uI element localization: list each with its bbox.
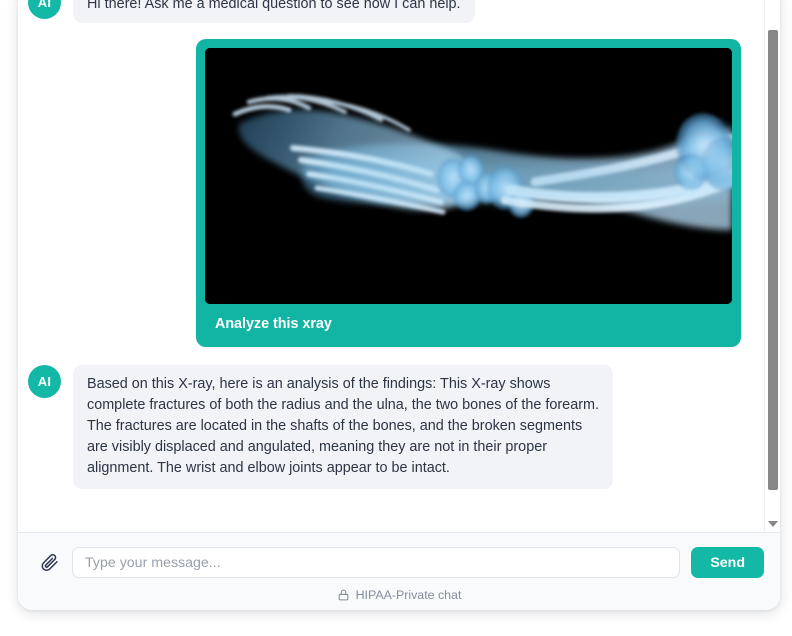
paperclip-icon bbox=[40, 553, 59, 572]
messages-list: AI Hi there! Ask me a medical question t… bbox=[18, 0, 755, 515]
messages-viewport[interactable]: AI Hi there! Ask me a medical question t… bbox=[18, 0, 780, 532]
message-user-attachment: Analyze this xray bbox=[18, 39, 755, 347]
scrollbar-thumb[interactable] bbox=[768, 30, 778, 490]
scrollbar[interactable] bbox=[764, 0, 780, 532]
user-message-card[interactable]: Analyze this xray bbox=[196, 39, 741, 347]
scroll-up-button[interactable] bbox=[765, 0, 780, 2]
composer: Send HIPAA-Private chat bbox=[18, 532, 780, 610]
chat-card: AI Hi there! Ask me a medical question t… bbox=[18, 0, 780, 610]
assistant-message-text: Hi there! Ask me a medical question to s… bbox=[73, 0, 475, 23]
send-button[interactable]: Send bbox=[691, 547, 764, 578]
user-message-caption: Analyze this xray bbox=[205, 304, 732, 347]
triangle-down-icon bbox=[768, 521, 778, 527]
xray-image[interactable] bbox=[205, 48, 732, 304]
message-assistant-greeting: AI Hi there! Ask me a medical question t… bbox=[18, 0, 755, 23]
composer-row: Send bbox=[34, 547, 764, 578]
message-input[interactable] bbox=[72, 547, 680, 578]
attach-button[interactable] bbox=[34, 548, 64, 578]
assistant-message-text: Based on this X-ray, here is an analysis… bbox=[73, 365, 613, 489]
avatar: AI bbox=[28, 365, 61, 398]
xray-illustration bbox=[205, 48, 732, 304]
message-assistant-analysis: AI Based on this X-ray, here is an analy… bbox=[18, 365, 755, 489]
scroll-down-button[interactable] bbox=[765, 516, 780, 532]
privacy-note-text: HIPAA-Private chat bbox=[356, 588, 462, 602]
privacy-note: HIPAA-Private chat bbox=[34, 588, 764, 602]
avatar: AI bbox=[28, 0, 61, 19]
chat-app: AI Hi there! Ask me a medical question t… bbox=[0, 0, 792, 636]
lock-icon bbox=[337, 588, 350, 602]
